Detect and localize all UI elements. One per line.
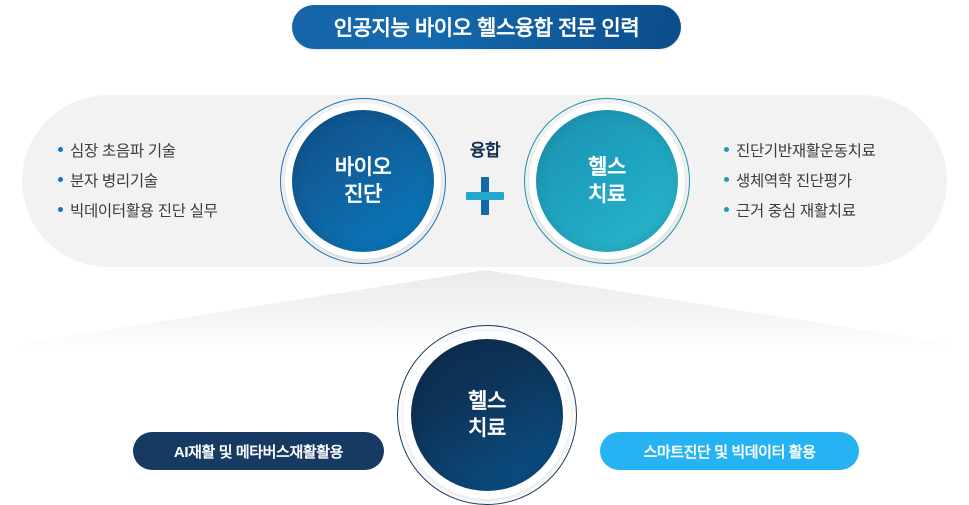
right-bullet-list: 진단기반재활운동치료 생체역학 진단평가 근거 중심 재활치료 bbox=[724, 137, 876, 227]
bullet-dot-icon bbox=[58, 177, 63, 182]
fusion-label: 융합 bbox=[470, 141, 500, 160]
list-item: 빅데이터활용 진단 실무 bbox=[58, 197, 218, 227]
bullet-dot-icon bbox=[724, 207, 729, 212]
diagram-canvas: 인공지능 바이오 헬스융합 전문 인력 심장 초음파 기술 분자 병리기술 빅데… bbox=[0, 0, 969, 505]
bullet-dot-icon bbox=[724, 147, 729, 152]
circle-label-line1: 헬스 bbox=[588, 154, 626, 181]
circle-label-line1: 헬스 bbox=[468, 388, 506, 415]
list-item: 근거 중심 재활치료 bbox=[724, 197, 876, 227]
diagram-title-pill: 인공지능 바이오 헬스융합 전문 인력 bbox=[292, 5, 681, 49]
list-item-label: 생체역학 진단평가 bbox=[736, 167, 852, 197]
bullet-dot-icon bbox=[58, 147, 63, 152]
circle-label-line2: 진단 bbox=[344, 181, 382, 208]
list-item-label: 심장 초음파 기술 bbox=[70, 137, 176, 167]
list-item-label: 진단기반재활운동치료 bbox=[736, 137, 876, 167]
list-item: 생체역학 진단평가 bbox=[724, 167, 876, 197]
circle-label-line1: 바이오 bbox=[335, 154, 391, 181]
left-bullet-list: 심장 초음파 기술 분자 병리기술 빅데이터활용 진단 실무 bbox=[58, 137, 218, 227]
bullet-dot-icon bbox=[58, 207, 63, 212]
list-item-label: 빅데이터활용 진단 실무 bbox=[70, 197, 218, 227]
circle-core: 바이오 진단 bbox=[292, 110, 434, 252]
plus-icon bbox=[465, 176, 505, 216]
tag-label: AI재활 및 메타버스재활활용 bbox=[174, 441, 343, 462]
list-item-label: 근거 중심 재활치료 bbox=[736, 197, 856, 227]
circle-label-line2: 치료 bbox=[588, 181, 626, 208]
circle-bottom-health-treatment: 헬스 치료 bbox=[397, 325, 577, 505]
circle-bio-diagnosis: 바이오 진단 bbox=[280, 98, 446, 264]
list-item: 심장 초음파 기술 bbox=[58, 137, 218, 167]
circle-core: 헬스 치료 bbox=[411, 339, 563, 491]
circle-label-line2: 치료 bbox=[468, 415, 506, 442]
plus-horizontal-bar bbox=[466, 192, 504, 200]
tag-ai-rehab: AI재활 및 메타버스재활활용 bbox=[133, 432, 384, 470]
bullet-dot-icon bbox=[724, 177, 729, 182]
circle-core: 헬스 치료 bbox=[536, 110, 678, 252]
tag-smart-diagnosis: 스마트진단 및 빅데이터 활용 bbox=[600, 432, 859, 470]
list-item: 분자 병리기술 bbox=[58, 167, 218, 197]
fusion-label-group: 융합 bbox=[455, 136, 515, 161]
circle-health-treatment: 헬스 치료 bbox=[524, 98, 690, 264]
list-item: 진단기반재활운동치료 bbox=[724, 137, 876, 167]
tag-label: 스마트진단 및 빅데이터 활용 bbox=[643, 441, 815, 462]
diagram-title-text: 인공지능 바이오 헬스융합 전문 인력 bbox=[334, 12, 640, 42]
list-item-label: 분자 병리기술 bbox=[70, 167, 158, 197]
